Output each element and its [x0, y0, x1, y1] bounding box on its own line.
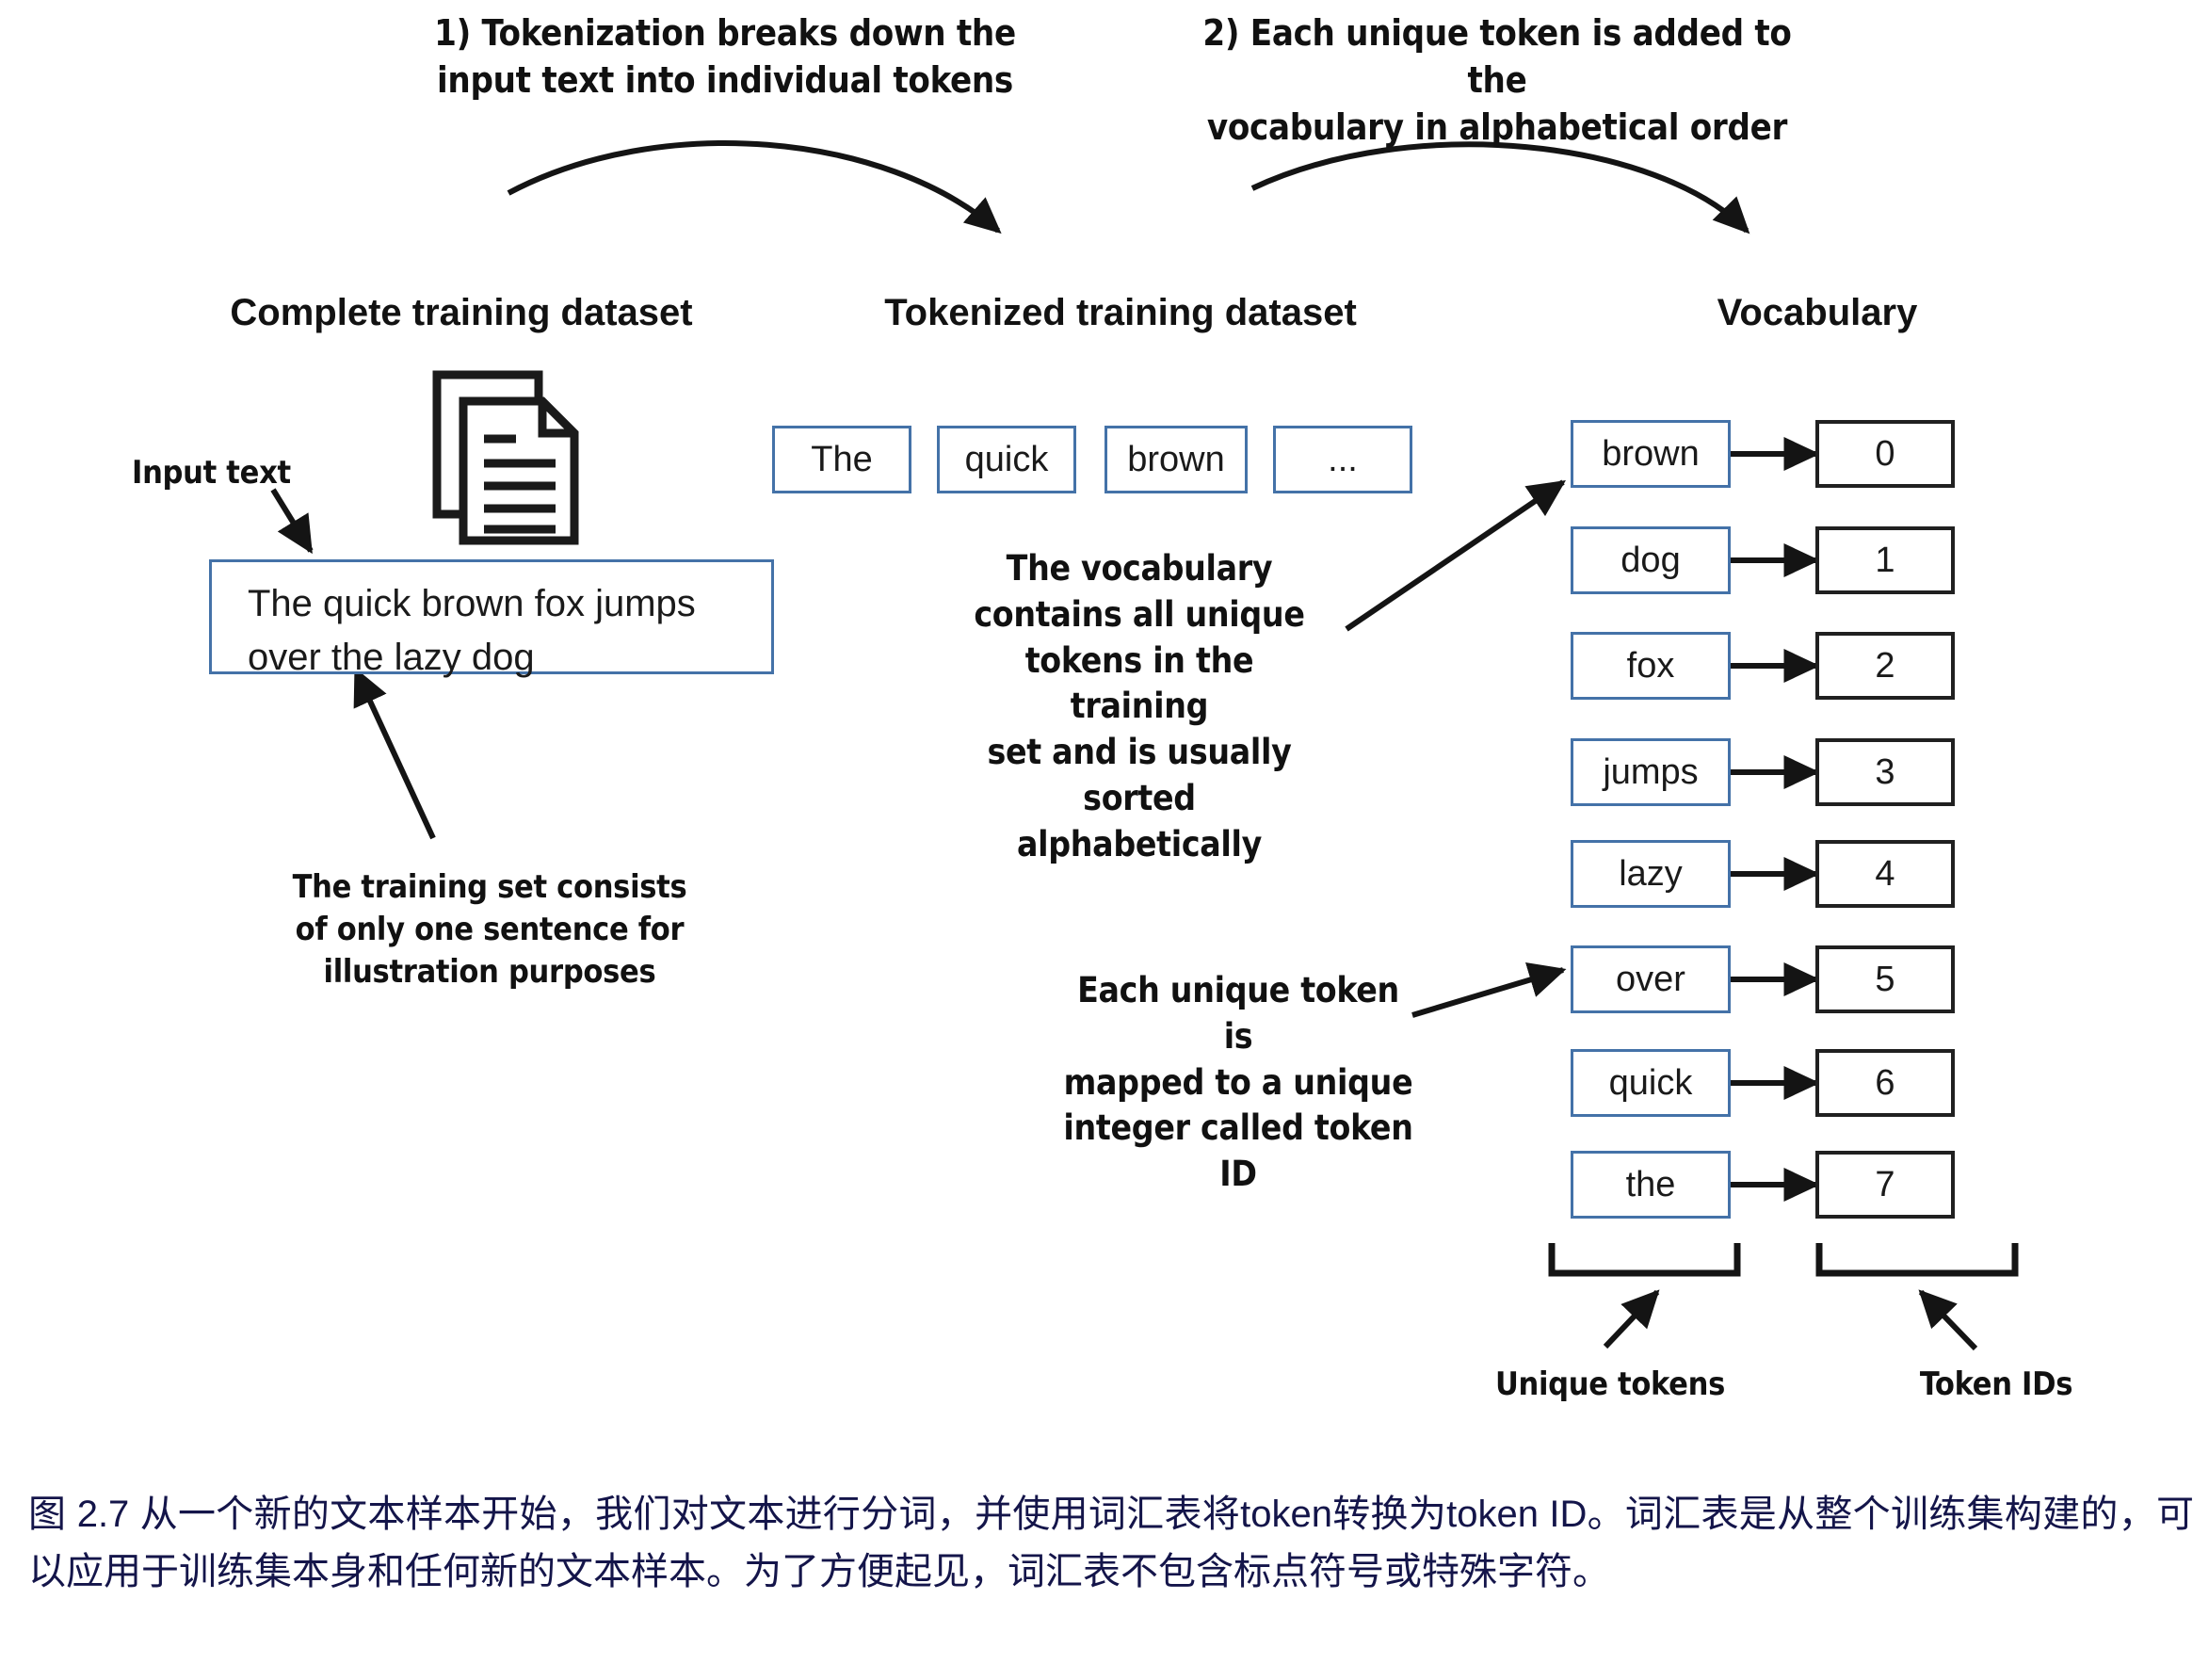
- bracket-label-unique-tokens: Unique tokens: [1455, 1364, 1766, 1406]
- curved-arrow-step-1: [508, 143, 998, 231]
- vocab-token-0: brown: [1571, 420, 1731, 488]
- bracket-token-ids: [1819, 1243, 2015, 1273]
- curved-arrow-step-2: [1252, 144, 1747, 231]
- heading-vocabulary: Vocabulary: [1591, 292, 2043, 334]
- arrow-token-ids-label: [1921, 1292, 1975, 1349]
- vocab-id-0: 0: [1815, 420, 1955, 488]
- vocab-token-5: over: [1571, 945, 1731, 1013]
- figure-caption: 图 2.7 从一个新的文本样本开始，我们对文本进行分词，并使用词汇表将token…: [28, 1486, 2194, 1601]
- bracket-unique-tokens: [1552, 1243, 1737, 1273]
- input-text-label: Input text: [132, 452, 367, 494]
- token-chip-3: ...: [1273, 426, 1412, 493]
- token-id-explanation-note: Each unique token is mapped to a unique …: [1059, 968, 1417, 1198]
- figure-canvas: 1) Tokenization breaks down the input te…: [0, 0, 2209, 1680]
- vocab-id-4: 4: [1815, 840, 1955, 908]
- token-chip-0: The: [772, 426, 911, 493]
- arrow-token-id-note: [1412, 970, 1563, 1015]
- bracket-label-token-ids: Token IDs: [1874, 1364, 2119, 1406]
- vocab-id-3: 3: [1815, 738, 1955, 806]
- vocab-token-3: jumps: [1571, 738, 1731, 806]
- vocab-id-7: 7: [1815, 1151, 1955, 1219]
- arrow-vocabulary-note: [1346, 482, 1563, 629]
- training-set-note: The training set consists of only one se…: [268, 866, 711, 993]
- token-chip-1: quick: [937, 426, 1076, 493]
- vocab-token-4: lazy: [1571, 840, 1731, 908]
- vocab-id-2: 2: [1815, 632, 1955, 700]
- token-chip-2: brown: [1104, 426, 1248, 493]
- arrow-unique-tokens-label: [1605, 1292, 1657, 1347]
- arrow-training-note: [356, 670, 433, 838]
- heading-complete-training-dataset: Complete training dataset: [132, 292, 791, 334]
- heading-tokenized-training-dataset: Tokenized training dataset: [810, 292, 1431, 334]
- input-text-box: The quick brown fox jumps over the lazy …: [209, 559, 774, 674]
- vocab-token-7: the: [1571, 1151, 1731, 1219]
- step-1-note: 1) Tokenization breaks down the input te…: [433, 9, 1017, 104]
- step-2-note: 2) Each unique token is added to the voc…: [1177, 9, 1817, 151]
- mapping-arrows: [1731, 454, 1815, 1185]
- vocab-token-6: quick: [1571, 1049, 1731, 1117]
- vocab-id-1: 1: [1815, 526, 1955, 594]
- vocab-id-6: 6: [1815, 1049, 1955, 1117]
- arrow-input-text: [273, 490, 311, 551]
- vocab-token-2: fox: [1571, 632, 1731, 700]
- document-stack-icon: [437, 375, 574, 541]
- vocabulary-explanation-note: The vocabulary contains all unique token…: [951, 546, 1328, 868]
- vocab-id-5: 5: [1815, 945, 1955, 1013]
- vocab-token-1: dog: [1571, 526, 1731, 594]
